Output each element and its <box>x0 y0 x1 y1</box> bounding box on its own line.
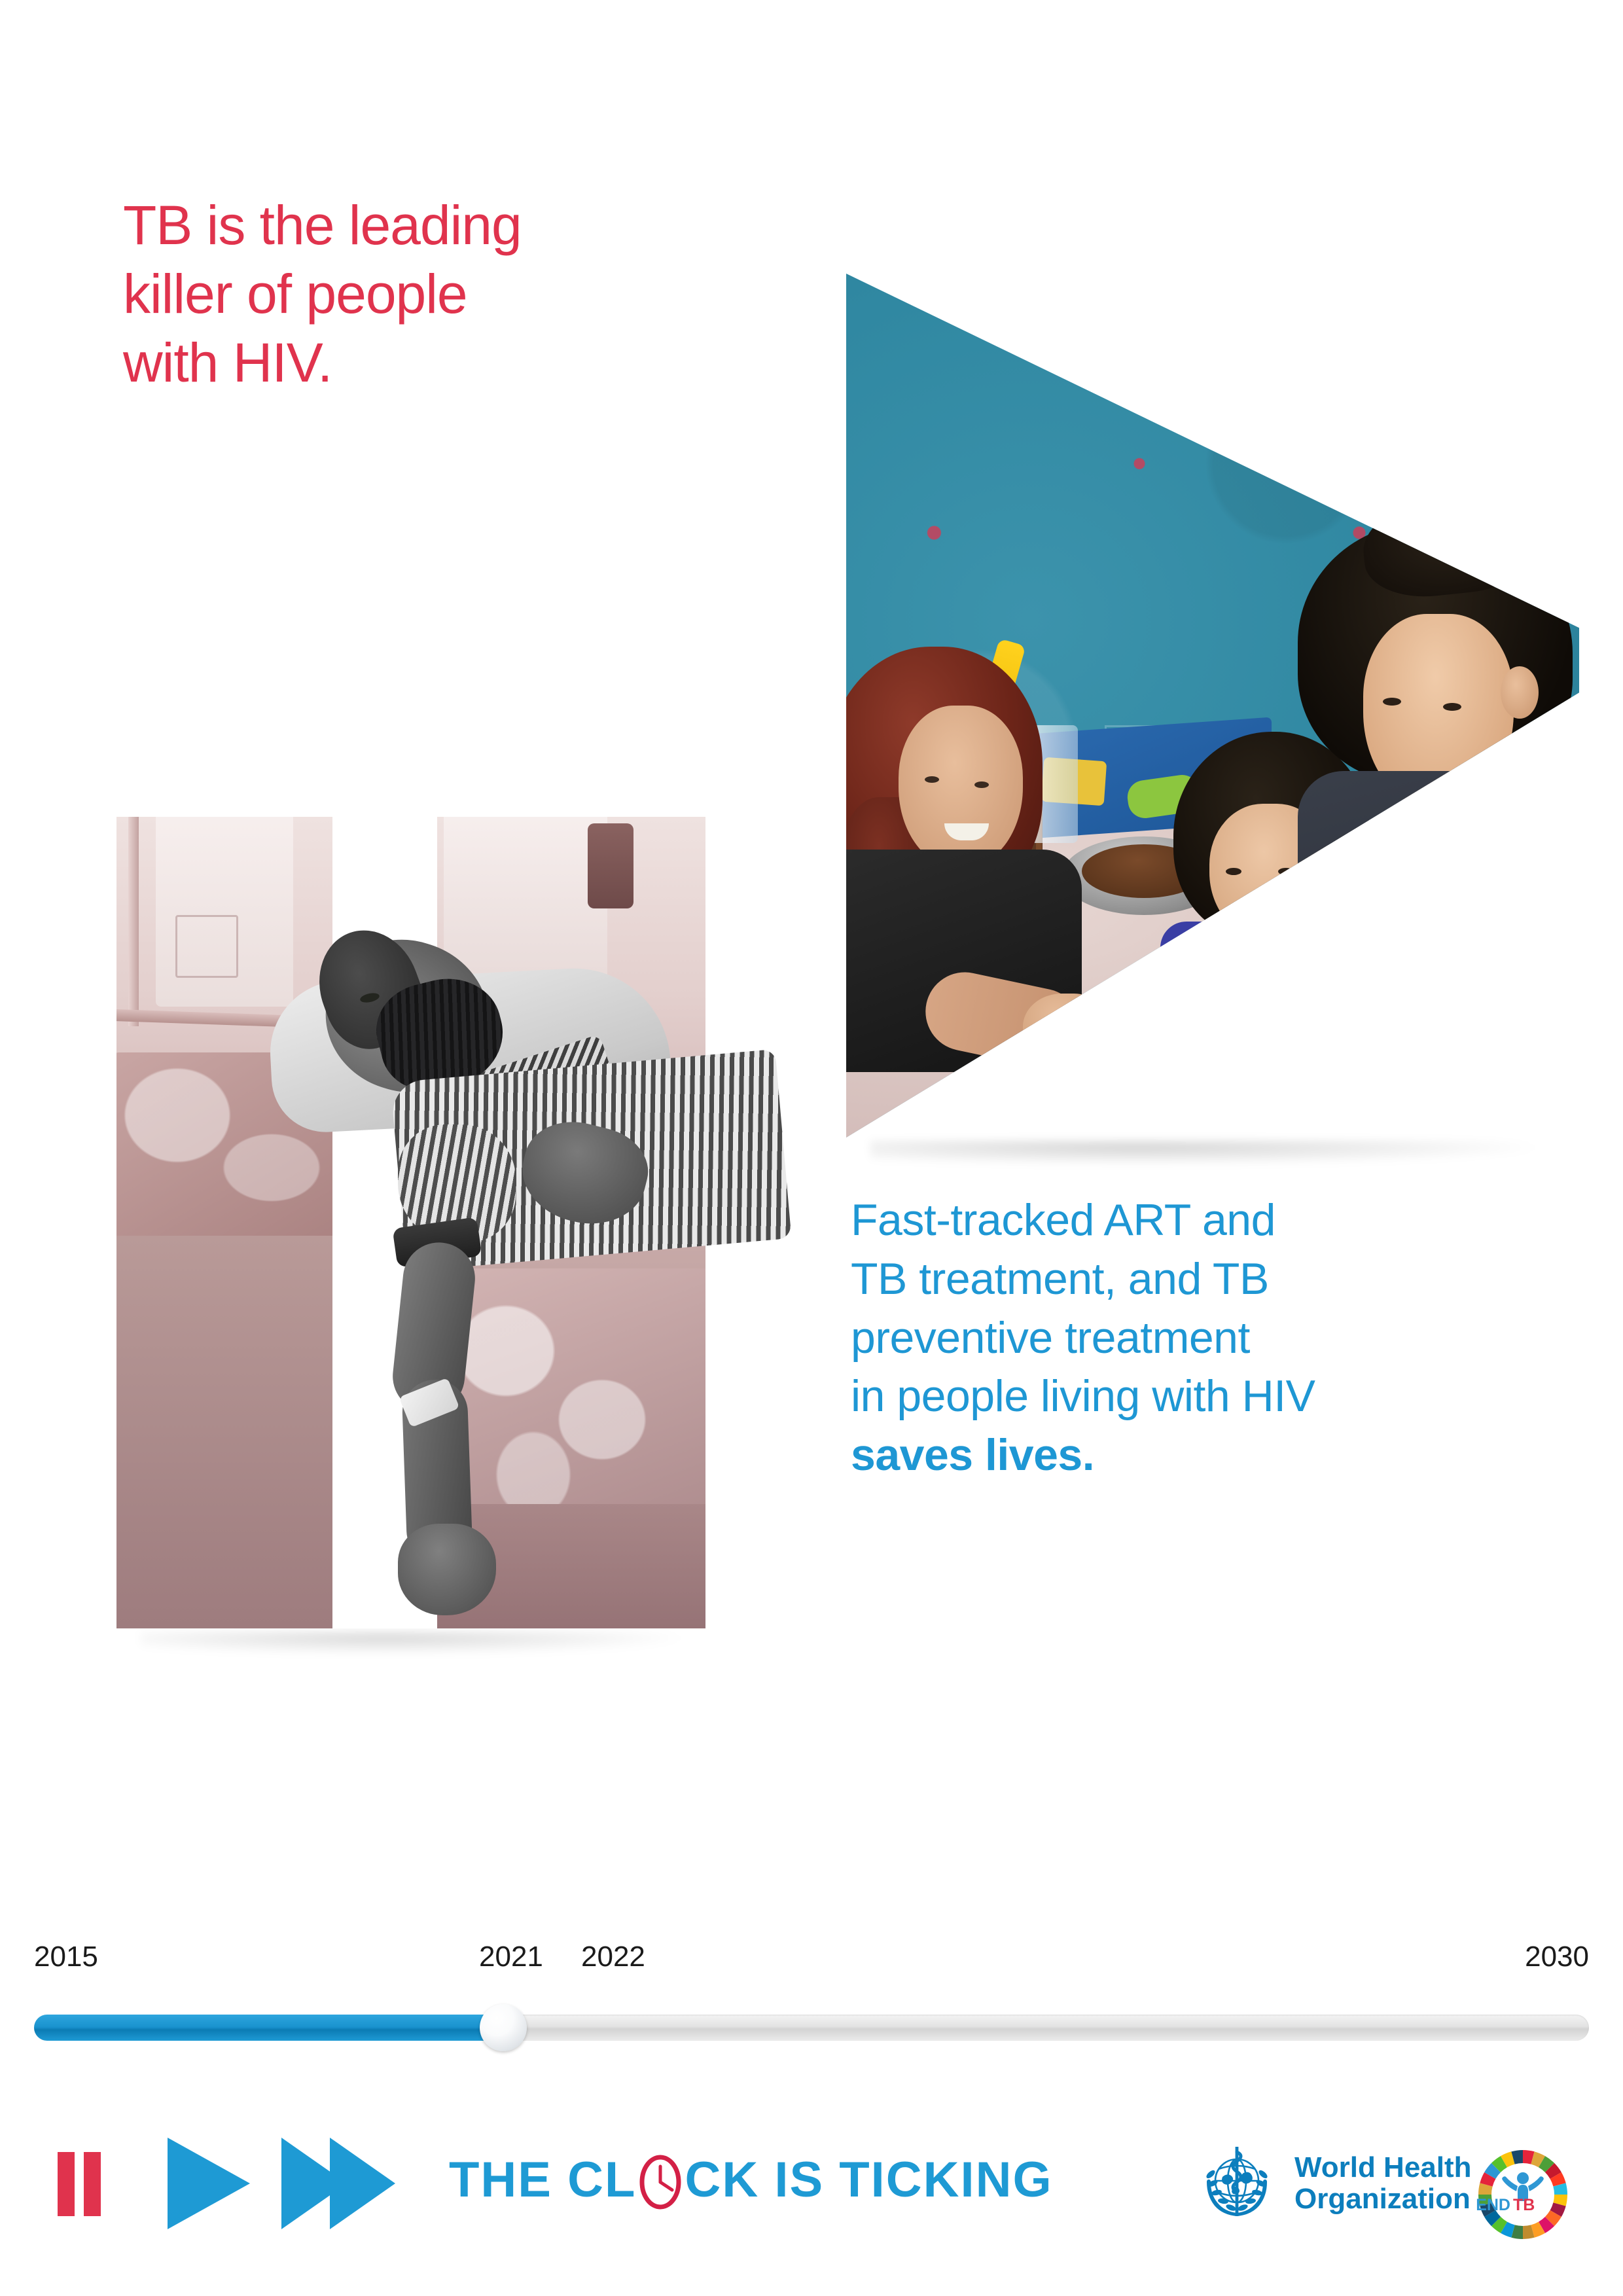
body-copy-line-4: in people living with HIV <box>851 1367 1531 1426</box>
footer-bar: THE CL CK IS TICKING <box>0 2121 1623 2251</box>
photo-boy-arm <box>1215 982 1439 1090</box>
body-copy-line-1: Fast-tracked ART and <box>851 1191 1531 1250</box>
headline-line-3: with HIV. <box>123 329 647 397</box>
photo-child-eye <box>1278 868 1294 875</box>
photo-boy-eye <box>1383 698 1401 706</box>
play-icon[interactable] <box>168 2138 250 2229</box>
body-copy: Fast-tracked ART and TB treatment, and T… <box>851 1191 1531 1485</box>
timeline-label-2015: 2015 <box>34 1941 98 1973</box>
headline: TB is the leading killer of people with … <box>123 191 647 397</box>
photo-boy-hand <box>1203 987 1294 1066</box>
photo-woman-eye <box>925 776 939 783</box>
photo-child-shirt-print <box>1239 967 1285 1039</box>
collage-patient-hanging-hand <box>398 1524 496 1615</box>
slogan-part-2: CK IS TICKING <box>685 2151 1052 2208</box>
who-wordmark-line-2: Organization <box>1294 2183 1472 2215</box>
pause-icon[interactable] <box>58 2152 101 2216</box>
photo-boy-hair-tuft <box>1359 488 1538 603</box>
end-tb-logo: END TB <box>1474 2145 1572 2244</box>
who-logo: World Health Organization <box>1196 2143 1472 2224</box>
endtb-text-tb: TB <box>1513 2196 1535 2214</box>
timeline-label-2030: 2030 <box>1525 1941 1589 1973</box>
photo-boy-tshirt-microphone-graphic <box>1410 935 1465 1059</box>
collage-patient-figure <box>116 817 705 1628</box>
tb-patient-hospital-bed-collage <box>116 817 705 1628</box>
photo-child-eye <box>1226 868 1241 875</box>
pause-bar-left <box>58 2152 75 2216</box>
body-copy-line-3: preventive treatment <box>851 1309 1531 1368</box>
photo-yellow-tool <box>1238 966 1289 1048</box>
headline-line-1: TB is the leading <box>123 191 647 260</box>
who-emblem-icon <box>1196 2143 1277 2224</box>
left-photo-shadow <box>141 1631 684 1655</box>
timeline-slider[interactable]: 2015 2021 2022 2030 <box>0 1941 1623 2065</box>
who-wordmark-line-1: World Health <box>1294 2152 1472 2183</box>
photo-boy-eye <box>1443 703 1461 711</box>
timeline-label-2022: 2022 <box>581 1941 645 1973</box>
body-copy-line-2: TB treatment, and TB <box>851 1250 1531 1309</box>
photo-woman-face <box>899 706 1023 869</box>
family-craft-activity-photo <box>846 274 1579 1138</box>
photo-woman-hand <box>1023 994 1108 1066</box>
timeline-label-2021: 2021 <box>479 1941 543 1973</box>
right-photo-shadow <box>870 1140 1538 1165</box>
campaign-slogan: THE CL CK IS TICKING <box>449 2149 1053 2210</box>
timeline-progress-fill <box>34 2015 516 2041</box>
photo-boy-ear <box>1501 666 1539 719</box>
clock-icon <box>639 2149 682 2210</box>
photo-boy-tshirt <box>1298 771 1579 1138</box>
photo-woman-eye <box>974 781 989 788</box>
body-copy-emphasis: saves lives. <box>851 1426 1531 1485</box>
pause-bar-right <box>84 2152 101 2216</box>
photo-boy-tshirt-graphic <box>1363 863 1527 1079</box>
slogan-part-1: THE CL <box>449 2151 636 2208</box>
who-wordmark: World Health Organization <box>1294 2152 1472 2214</box>
photo-child-shirt <box>1160 922 1376 1138</box>
endtb-text-end: END <box>1476 2196 1510 2214</box>
fast-forward-triangle-2 <box>330 2138 395 2229</box>
fast-forward-icon[interactable] <box>281 2138 419 2229</box>
headline-line-2: killer of people <box>123 260 647 329</box>
timeline-track[interactable] <box>34 2015 1589 2041</box>
timeline-thumb-handle[interactable] <box>480 2004 527 2051</box>
